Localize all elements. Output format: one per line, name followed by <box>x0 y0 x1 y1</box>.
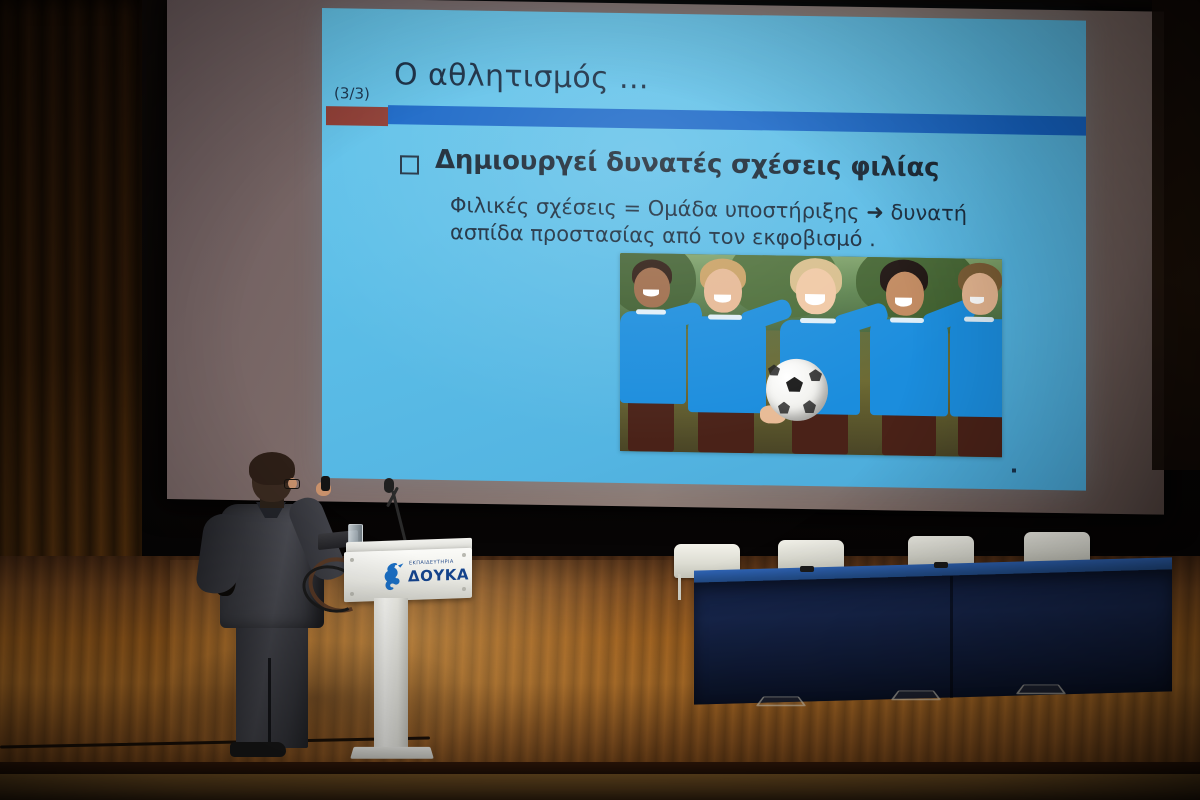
podium-base <box>350 747 434 759</box>
slide-trailing-dot <box>1012 468 1016 472</box>
seahorse-icon <box>376 560 406 593</box>
slide-title: Ο αθλητισμός ... <box>394 57 649 96</box>
panel-table-group <box>672 536 1172 706</box>
empty-square-bullet-icon <box>400 155 419 174</box>
slide-body-text: Φιλικές σχέσεις = Ομάδα υποστήριξης ➜ δυ… <box>450 192 1050 256</box>
podium-column <box>374 598 408 750</box>
auditorium-stage-scene: Ο αθλητισμός ... (3/3) Δημιουργεί δυνατέ… <box>0 0 1200 800</box>
presenter-shoe <box>230 742 286 757</box>
photo-child <box>864 257 956 457</box>
podium-logo-name: ΔΟΥΚΑ <box>408 565 469 585</box>
table-cloth-clip <box>800 566 814 572</box>
right-arrow-icon: ➜ <box>866 200 884 224</box>
projected-slide: Ο αθλητισμός ... (3/3) Δημιουργεί δυνατέ… <box>322 8 1086 491</box>
stage-floor-socket <box>1016 684 1067 694</box>
presenter-trouser-seam <box>268 658 271 746</box>
photo-child <box>682 254 774 454</box>
table-cloth-clip <box>934 562 948 568</box>
stage-curtain-right <box>1152 0 1200 470</box>
stage-floor-socket <box>756 696 807 706</box>
slide-accent-block <box>326 106 388 126</box>
slide-bullet-heading: Δημιουργεί δυνατές σχέσεις φιλίας <box>435 145 939 183</box>
slide-body-line-2: ασπίδα προστασίας από τον εκφοβισμό . <box>450 220 876 251</box>
slide-body-line-1-tail: δυνατή <box>891 200 968 225</box>
stage-floor-socket <box>891 690 942 700</box>
presenter-trousers <box>236 624 308 748</box>
slide-bullet-row: Δημιουργεί δυνατές σχέσεις φιλίας <box>400 144 939 183</box>
photo-child <box>950 258 1002 457</box>
slide-photo-children-football <box>620 253 1002 457</box>
panel-table-cloth-seam <box>950 576 953 698</box>
panel-table-cloth <box>694 569 1172 704</box>
stage-apron-front <box>0 774 1200 800</box>
slide-accent-bar <box>388 105 1086 136</box>
slide-body-line-1: Φιλικές σχέσεις = Ομάδα υποστήριξης <box>450 193 860 224</box>
podium-school-logo: ΕΚΠΑΙΔΕΥΤΗΡΙΑ ΔΟΥΚΑ <box>376 555 468 594</box>
photo-child <box>772 255 868 455</box>
glasses-icon <box>284 479 300 489</box>
slide-page-marker: (3/3) <box>334 84 370 103</box>
presentation-clicker-icon <box>321 476 330 491</box>
soccer-ball-icon <box>766 358 828 421</box>
